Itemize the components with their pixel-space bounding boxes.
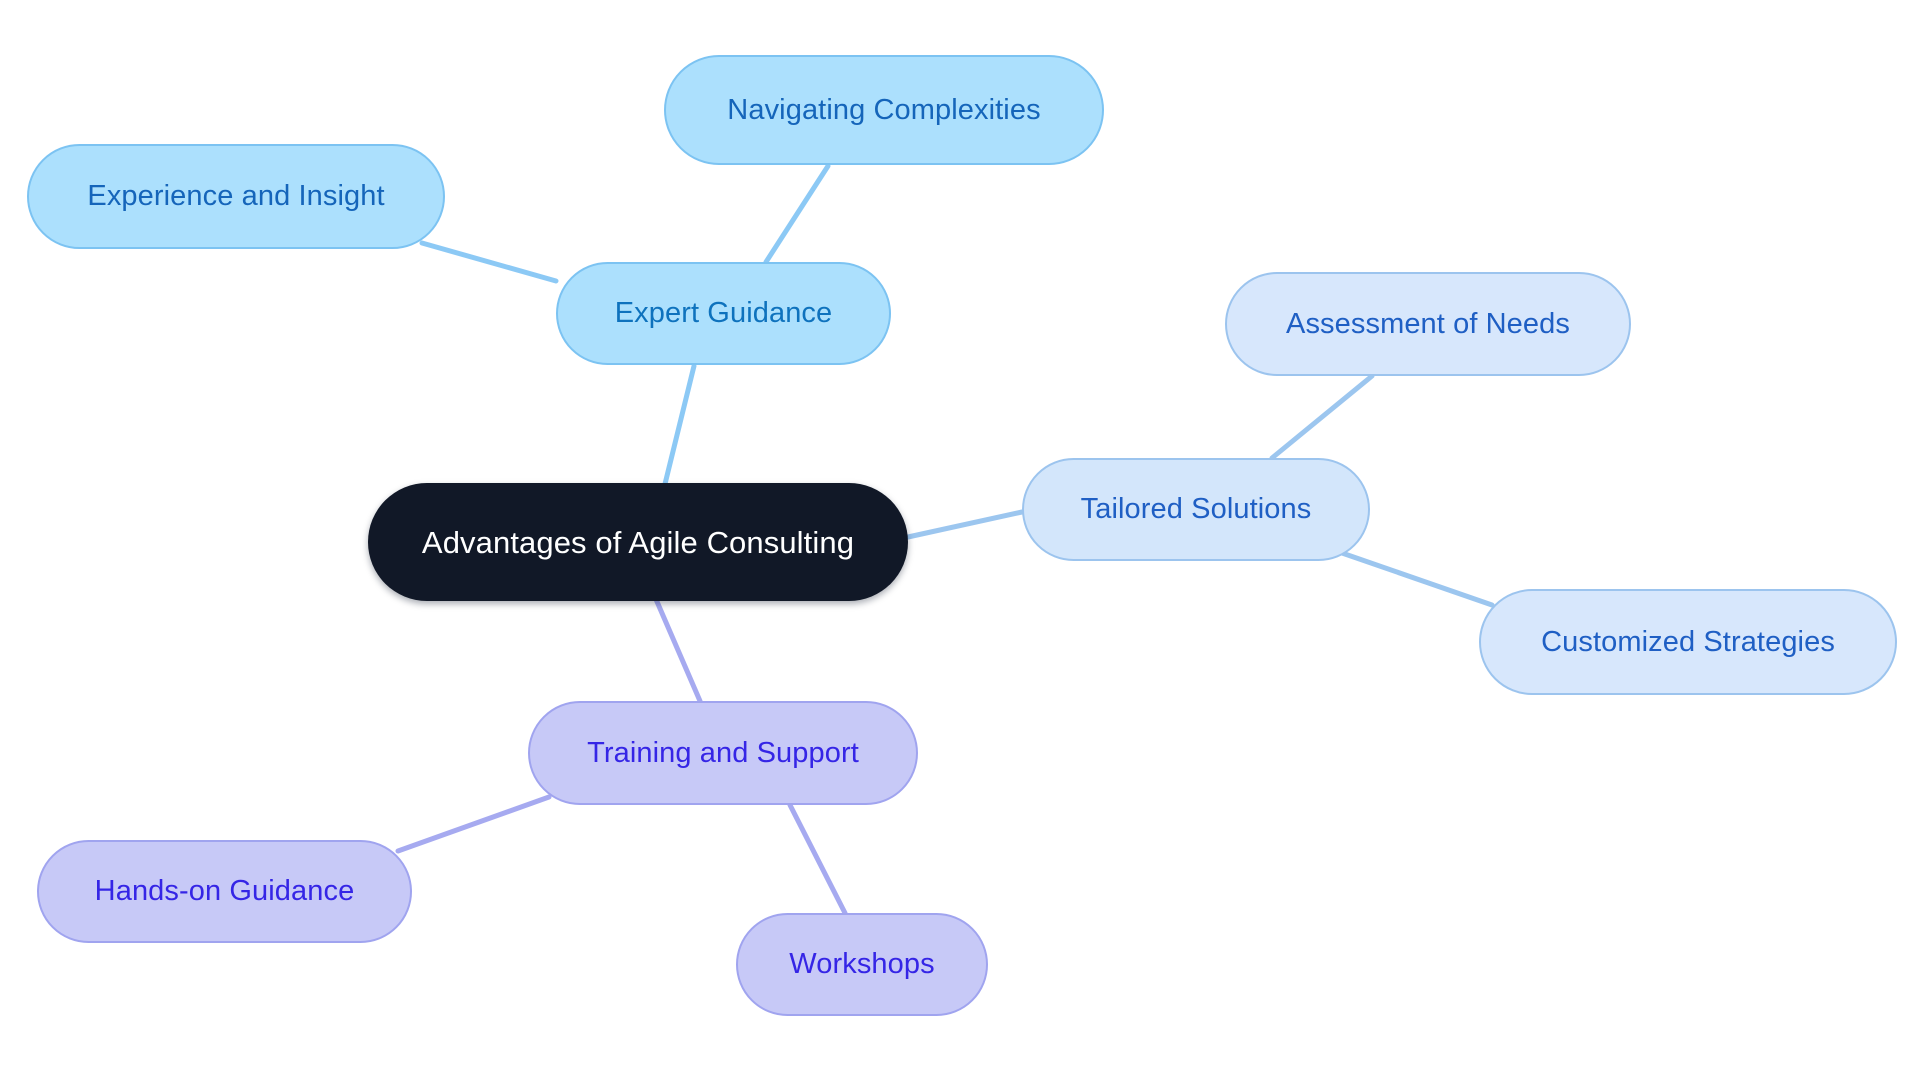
- mindmap-canvas: Expert Guidance Navigating Complexities …: [0, 0, 1920, 1083]
- node-hands-on-guidance[interactable]: Hands-on Guidance: [37, 840, 412, 943]
- node-customized-strategies[interactable]: Customized Strategies: [1479, 589, 1897, 695]
- node-label-customized-strategies: Customized Strategies: [1541, 628, 1835, 657]
- expert-guidance-to-experience-and-insight: [422, 243, 556, 281]
- node-expert-guidance[interactable]: Expert Guidance: [556, 262, 891, 365]
- node-label-tailored-solutions: Tailored Solutions: [1081, 495, 1312, 524]
- node-label-expert-guidance: Expert Guidance: [615, 299, 833, 328]
- node-label-experience-and-insight: Experience and Insight: [87, 182, 384, 211]
- node-workshops[interactable]: Workshops: [736, 913, 988, 1016]
- tailored-solutions-to-assessment-of-needs: [1272, 376, 1372, 458]
- root-to-tailored-solutions: [908, 512, 1022, 537]
- training-and-support-to-workshops: [790, 805, 845, 913]
- node-root-advantages-of-agile-consulting[interactable]: Advantages of Agile Consulting: [368, 483, 908, 601]
- expert-guidance-to-navigating-complexities: [766, 166, 828, 262]
- training-and-support-to-hands-on-guidance: [398, 797, 549, 851]
- node-label-navigating-complexities: Navigating Complexities: [727, 96, 1040, 125]
- node-tailored-solutions[interactable]: Tailored Solutions: [1022, 458, 1370, 561]
- root-to-expert-guidance: [664, 366, 694, 488]
- node-label-hands-on-guidance: Hands-on Guidance: [95, 877, 355, 906]
- tailored-solutions-to-customized-strategies: [1342, 553, 1492, 605]
- node-assessment-of-needs[interactable]: Assessment of Needs: [1225, 272, 1631, 376]
- node-label-workshops: Workshops: [789, 950, 934, 979]
- node-experience-and-insight[interactable]: Experience and Insight: [27, 144, 445, 249]
- node-label-root: Advantages of Agile Consulting: [422, 527, 854, 558]
- node-label-training-and-support: Training and Support: [587, 739, 859, 768]
- root-to-training-and-support: [655, 597, 700, 701]
- node-navigating-complexities[interactable]: Navigating Complexities: [664, 55, 1104, 165]
- node-training-and-support[interactable]: Training and Support: [528, 701, 918, 805]
- node-label-assessment-of-needs: Assessment of Needs: [1286, 310, 1570, 339]
